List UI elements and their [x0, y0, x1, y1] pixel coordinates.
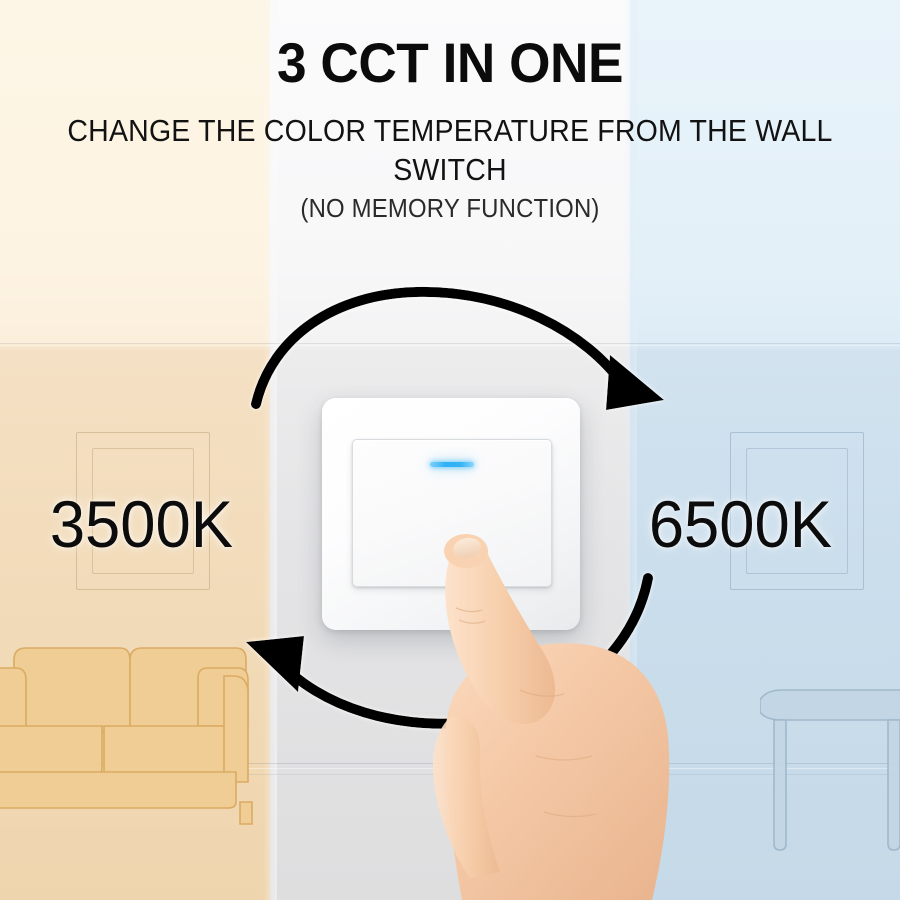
page-title: 3 CCT IN ONE — [23, 34, 878, 93]
page-note: (NO MEMORY FUNCTION) — [36, 193, 864, 224]
headline-block: 3 CCT IN ONE CHANGE THE COLOR TEMPERATUR… — [0, 34, 900, 224]
floor-line — [0, 774, 900, 775]
switch-rocker-button[interactable] — [352, 439, 552, 587]
page-subtitle: CHANGE THE COLOR TEMPERATURE FROM THE WA… — [36, 111, 864, 189]
baseboard-line — [0, 763, 900, 764]
ceiling-line — [0, 343, 900, 344]
label-3500k: 3500K — [50, 486, 233, 562]
ceiling-line-highlight — [0, 345, 900, 346]
promo-graphic: 3 CCT IN ONE CHANGE THE COLOR TEMPERATUR… — [0, 0, 900, 900]
led-indicator — [430, 462, 474, 467]
wall-switch-plate[interactable] — [322, 398, 580, 630]
label-6500k: 6500K — [649, 486, 832, 562]
baseboard-highlight — [0, 768, 900, 769]
